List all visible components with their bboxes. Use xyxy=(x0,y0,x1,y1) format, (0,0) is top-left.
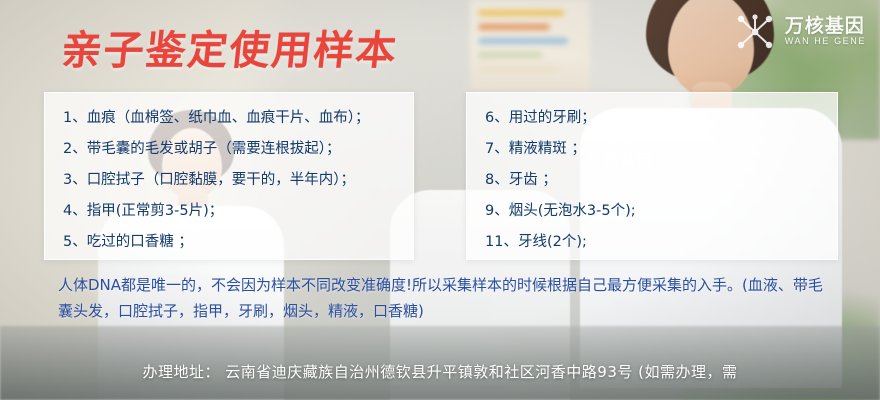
list-item: 1、血痕（血棉签、纸巾血、血痕干片、血布）； xyxy=(45,103,413,134)
watermark-top-text: 万核基因 WAN HE GENE xyxy=(785,17,866,46)
page-title: 亲子鉴定使用样本 xyxy=(59,18,401,76)
list-item: 11、牙线(2个); xyxy=(467,227,837,258)
watermark-top-en: WAN HE GENE xyxy=(785,37,866,46)
list-item: 9、烟头(无泡水3-5个); xyxy=(467,196,837,227)
poster-image: 万核基因 WAN HE GENE 万核基因 WAN HE GENE xyxy=(0,0,880,400)
list-item: 4、指甲(正常剪3-5片)； xyxy=(45,196,413,227)
sample-list-right-panel: 6、用过的牙刷； 7、精液精斑 ； 8、牙齿 ； 9、烟头(无泡水3-5个); … xyxy=(466,92,838,260)
sample-list-left: 1、血痕（血棉签、纸巾血、血痕干片、血布）； 2、带毛囊的毛发或胡子（需要连根拔… xyxy=(45,103,413,258)
list-item: 2、带毛囊的毛发或胡子（需要连根拔起）； xyxy=(45,134,413,165)
sample-list-left-panel: 1、血痕（血棉签、纸巾血、血痕干片、血布）； 2、带毛囊的毛发或胡子（需要连根拔… xyxy=(44,92,414,260)
list-item: 5、吃过的口香糖 ； xyxy=(45,227,413,258)
note-paragraph: 人体DNA都是唯一的，不会因为样本不同改变准确度!所以采集样本的时候根据自己最方… xyxy=(58,272,828,325)
watermark-top-cn: 万核基因 xyxy=(785,17,866,37)
list-item: 6、用过的牙刷； xyxy=(467,103,837,134)
list-item: 7、精液精斑 ； xyxy=(467,134,837,165)
list-item: 8、牙齿 ； xyxy=(467,165,837,196)
address-line: 办理地址： 云南省迪庆藏族自治州德钦县升平镇敦和社区河香中路93号 (如需办理，… xyxy=(0,361,880,382)
watermark-top: 万核基因 WAN HE GENE xyxy=(733,10,866,54)
sample-list-right: 6、用过的牙刷； 7、精液精斑 ； 8、牙齿 ； 9、烟头(无泡水3-5个); … xyxy=(467,103,837,258)
dna-molecule-icon xyxy=(733,10,777,54)
list-item: 3、口腔拭子（口腔黏膜，要干的，半年内）； xyxy=(45,165,413,196)
